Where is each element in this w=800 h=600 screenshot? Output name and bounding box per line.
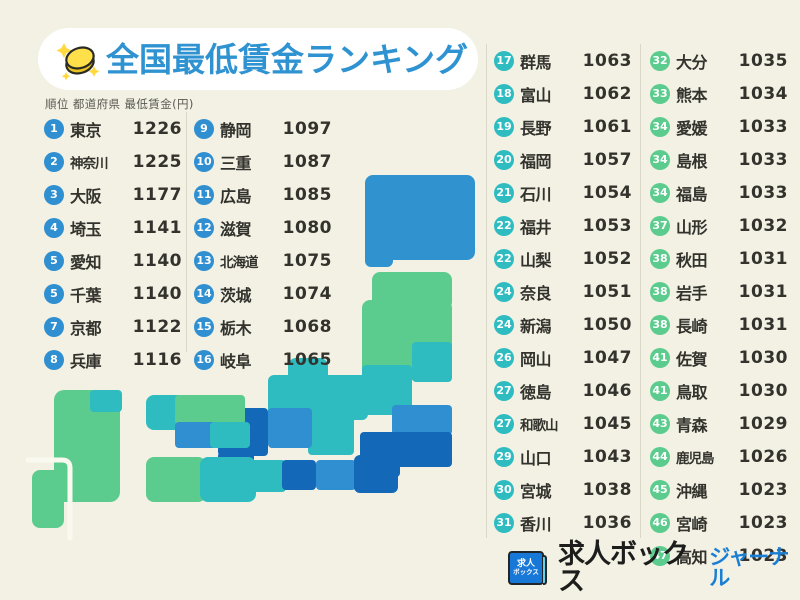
ranking-row: 1東京1226 xyxy=(44,112,186,145)
prefecture-name: 和歌山 xyxy=(520,414,576,434)
minimum-wage-value: 1087 xyxy=(276,152,336,172)
minimum-wage-value: 1075 xyxy=(276,251,336,271)
minimum-wage-value: 1047 xyxy=(576,348,636,368)
prefecture-name: 群馬 xyxy=(520,49,576,73)
ranking-row: 29山口1043 xyxy=(494,440,636,473)
rank-badge: 22 xyxy=(494,216,514,236)
logo-mark-line2: ボックス xyxy=(513,569,539,576)
rank-badge: 19 xyxy=(494,117,514,137)
prefecture-name: 静岡 xyxy=(220,117,276,141)
ranking-row: 46宮崎1023 xyxy=(650,506,792,539)
minimum-wage-value: 1052 xyxy=(576,249,636,269)
prefecture-name: 熊本 xyxy=(676,82,732,106)
kyujin-box-mark-icon: 求人 ボックス xyxy=(508,551,544,585)
minimum-wage-value: 1061 xyxy=(576,117,636,137)
minimum-wage-value: 1034 xyxy=(732,84,792,104)
ranking-row: 45沖縄1023 xyxy=(650,473,792,506)
minimum-wage-value: 1225 xyxy=(126,152,186,172)
rank-badge: 12 xyxy=(194,218,214,238)
rank-badge: 41 xyxy=(650,348,670,368)
minimum-wage-value: 1026 xyxy=(732,447,792,467)
ranking-row: 2神奈川1225 xyxy=(44,145,186,178)
rank-badge: 34 xyxy=(650,183,670,203)
minimum-wage-value: 1177 xyxy=(126,185,186,205)
map-region-chubu-nagano xyxy=(308,405,354,455)
rank-badge: 29 xyxy=(494,447,514,467)
prefecture-name: 青森 xyxy=(676,412,732,436)
map-region-chugoku-green xyxy=(175,395,245,425)
prefecture-name: 鹿児島 xyxy=(676,447,732,467)
ranking-row: 34愛媛1033 xyxy=(650,110,792,143)
ranking-column-4: 32大分103533熊本103434愛媛103334島根103334福島1033… xyxy=(650,44,792,572)
prefecture-name: 山口 xyxy=(520,445,576,469)
rank-badge: 11 xyxy=(194,185,214,205)
minimum-wage-value: 1122 xyxy=(126,317,186,337)
ranking-row: 21石川1054 xyxy=(494,176,636,209)
prefecture-name: 神奈川 xyxy=(70,152,126,172)
prefecture-name: 滋賀 xyxy=(220,216,276,240)
ranking-row: 13北海道1075 xyxy=(194,244,336,277)
prefecture-name: 佐賀 xyxy=(676,346,732,370)
ranking-row: 14茨城1074 xyxy=(194,277,336,310)
infographic-root: 全国最低賃金ランキング 順位 都道府県 最低賃金(円) 1東京12262神奈川1… xyxy=(0,0,800,600)
map-region-chugoku-teal xyxy=(210,422,250,448)
ranking-row: 43青森1029 xyxy=(650,407,792,440)
ranking-row: 15栃木1068 xyxy=(194,310,336,343)
minimum-wage-value: 1030 xyxy=(732,348,792,368)
ranking-row: 5千葉1140 xyxy=(44,277,186,310)
gold-coin-icon xyxy=(54,36,106,82)
minimum-wage-value: 1035 xyxy=(732,51,792,71)
rank-badge: 34 xyxy=(650,150,670,170)
rank-badge: 26 xyxy=(494,348,514,368)
prefecture-name: 石川 xyxy=(520,181,576,205)
ranking-row: 32大分1035 xyxy=(650,44,792,77)
rank-badge: 4 xyxy=(44,218,64,238)
ranking-row: 38岩手1031 xyxy=(650,275,792,308)
ranking-row: 34福島1033 xyxy=(650,176,792,209)
rank-badge: 27 xyxy=(494,381,514,401)
minimum-wage-value: 1085 xyxy=(276,185,336,205)
prefecture-name: 京都 xyxy=(70,315,126,339)
minimum-wage-value: 1031 xyxy=(732,249,792,269)
rank-badge: 18 xyxy=(494,84,514,104)
rank-badge: 33 xyxy=(650,84,670,104)
ranking-column-header: 順位 都道府県 最低賃金(円) xyxy=(45,96,194,112)
ranking-row: 27徳島1046 xyxy=(494,374,636,407)
rank-badge: 27 xyxy=(494,414,514,434)
prefecture-name: 岩手 xyxy=(676,280,732,304)
ranking-row: 9静岡1097 xyxy=(194,112,336,145)
map-region-shikoku-green xyxy=(146,457,206,502)
ranking-row: 26岡山1047 xyxy=(494,341,636,374)
ranking-column-1: 1東京12262神奈川12253大阪11774埼玉11415愛知11405千葉1… xyxy=(44,112,186,376)
minimum-wage-value: 1054 xyxy=(576,183,636,203)
map-region-hokkaido-tail xyxy=(365,245,393,267)
rank-badge: 31 xyxy=(494,513,514,533)
prefecture-name: 徳島 xyxy=(520,379,576,403)
ranking-row: 11広島1085 xyxy=(194,178,336,211)
prefecture-name: 兵庫 xyxy=(70,348,126,372)
minimum-wage-value: 1226 xyxy=(126,119,186,139)
minimum-wage-value: 1023 xyxy=(732,513,792,533)
ranking-row: 24奈良1051 xyxy=(494,275,636,308)
ranking-row: 18富山1062 xyxy=(494,77,636,110)
ranking-row: 31香川1036 xyxy=(494,506,636,539)
rank-badge: 8 xyxy=(44,350,64,370)
rank-badge: 15 xyxy=(194,317,214,337)
minimum-wage-value: 1141 xyxy=(126,218,186,238)
prefecture-name: 北海道 xyxy=(220,251,276,271)
minimum-wage-value: 1063 xyxy=(576,51,636,71)
rank-badge: 41 xyxy=(650,381,670,401)
prefecture-name: 沖縄 xyxy=(676,478,732,502)
rank-badge: 14 xyxy=(194,284,214,304)
rank-badge: 5 xyxy=(44,284,64,304)
rank-badge: 43 xyxy=(650,414,670,434)
minimum-wage-value: 1043 xyxy=(576,447,636,467)
ranking-row: 5愛知1140 xyxy=(44,244,186,277)
minimum-wage-value: 1033 xyxy=(732,117,792,137)
rank-badge: 21 xyxy=(494,183,514,203)
ranking-row: 4埼玉1141 xyxy=(44,211,186,244)
ranking-column-2: 9静岡109710三重108711広島108512滋賀108013北海道1075… xyxy=(194,112,336,376)
minimum-wage-value: 1023 xyxy=(732,480,792,500)
ranking-row: 22山梨1052 xyxy=(494,242,636,275)
ranking-row: 20福岡1057 xyxy=(494,143,636,176)
title-banner: 全国最低賃金ランキング xyxy=(38,28,478,90)
ranking-row: 44鹿児島1026 xyxy=(650,440,792,473)
minimum-wage-value: 1031 xyxy=(732,315,792,335)
ranking-row: 16岐阜1065 xyxy=(194,343,336,376)
prefecture-name: 岐阜 xyxy=(220,348,276,372)
ranking-row: 34島根1033 xyxy=(650,143,792,176)
prefecture-name: 秋田 xyxy=(676,247,732,271)
ranking-row: 38長崎1031 xyxy=(650,308,792,341)
minimum-wage-value: 1036 xyxy=(576,513,636,533)
prefecture-name: 新潟 xyxy=(520,313,576,337)
minimum-wage-value: 1046 xyxy=(576,381,636,401)
ranking-row: 10三重1087 xyxy=(194,145,336,178)
prefecture-name: 山梨 xyxy=(520,247,576,271)
minimum-wage-value: 1030 xyxy=(732,381,792,401)
prefecture-name: 大阪 xyxy=(70,183,126,207)
rank-badge: 13 xyxy=(194,251,214,271)
rank-badge: 20 xyxy=(494,150,514,170)
minimum-wage-value: 1097 xyxy=(276,119,336,139)
rank-badge: 44 xyxy=(650,447,670,467)
rank-badge: 10 xyxy=(194,152,214,172)
minimum-wage-value: 1033 xyxy=(732,183,792,203)
prefecture-name: 愛知 xyxy=(70,249,126,273)
prefecture-name: 鳥取 xyxy=(676,379,732,403)
prefecture-name: 東京 xyxy=(70,117,126,141)
rank-badge: 1 xyxy=(44,119,64,139)
ranking-row: 41佐賀1030 xyxy=(650,341,792,374)
rank-badge: 17 xyxy=(494,51,514,71)
rank-badge: 24 xyxy=(494,315,514,335)
map-region-kinki-nara xyxy=(282,460,316,490)
ranking-row: 24新潟1050 xyxy=(494,308,636,341)
prefecture-name: 山形 xyxy=(676,214,732,238)
ranking-row: 19長野1061 xyxy=(494,110,636,143)
map-region-kanto-chiba xyxy=(392,432,452,467)
minimum-wage-value: 1050 xyxy=(576,315,636,335)
column-divider-3 xyxy=(640,44,641,538)
prefecture-name: 埼玉 xyxy=(70,216,126,240)
map-region-shikoku-teal2 xyxy=(200,457,256,502)
ranking-row: 12滋賀1080 xyxy=(194,211,336,244)
minimum-wage-value: 1045 xyxy=(576,414,636,434)
prefecture-name: 長崎 xyxy=(676,313,732,337)
prefecture-name: 福岡 xyxy=(520,148,576,172)
ranking-row: 3大阪1177 xyxy=(44,178,186,211)
prefecture-name: 茨城 xyxy=(220,282,276,306)
minimum-wage-value: 1074 xyxy=(276,284,336,304)
rank-badge: 7 xyxy=(44,317,64,337)
map-region-kyushu-teal xyxy=(90,390,122,412)
prefecture-name: 富山 xyxy=(520,82,576,106)
minimum-wage-value: 1140 xyxy=(126,284,186,304)
prefecture-name: 三重 xyxy=(220,150,276,174)
minimum-wage-value: 1051 xyxy=(576,282,636,302)
prefecture-name: 千葉 xyxy=(70,282,126,306)
ranking-row: 7京都1122 xyxy=(44,310,186,343)
prefecture-name: 岡山 xyxy=(520,346,576,370)
prefecture-name: 広島 xyxy=(220,183,276,207)
rank-badge: 9 xyxy=(194,119,214,139)
map-region-tohoku-miyagi xyxy=(412,342,452,382)
map-region-okinawa xyxy=(32,470,64,528)
minimum-wage-value: 1031 xyxy=(732,282,792,302)
ranking-column-3: 17群馬106318富山106219長野106120福岡105721石川1054… xyxy=(494,44,636,539)
ranking-row: 38秋田1031 xyxy=(650,242,792,275)
rank-badge: 24 xyxy=(494,282,514,302)
minimum-wage-value: 1116 xyxy=(126,350,186,370)
ranking-row: 17群馬1063 xyxy=(494,44,636,77)
ranking-row: 22福井1053 xyxy=(494,209,636,242)
rank-badge: 37 xyxy=(650,216,670,236)
ranking-row: 30宮城1038 xyxy=(494,473,636,506)
prefecture-name: 愛媛 xyxy=(676,115,732,139)
ranking-row: 33熊本1034 xyxy=(650,77,792,110)
minimum-wage-value: 1068 xyxy=(276,317,336,337)
rank-badge: 22 xyxy=(494,249,514,269)
minimum-wage-value: 1038 xyxy=(576,480,636,500)
prefecture-name: 香川 xyxy=(520,511,576,535)
minimum-wage-value: 1057 xyxy=(576,150,636,170)
minimum-wage-value: 1032 xyxy=(732,216,792,236)
ranking-row: 41鳥取1030 xyxy=(650,374,792,407)
prefecture-name: 大分 xyxy=(676,49,732,73)
rank-badge: 2 xyxy=(44,152,64,172)
page-title: 全国最低賃金ランキング xyxy=(106,43,468,76)
prefecture-name: 福島 xyxy=(676,181,732,205)
logo-wordmark: 求人ボックス xyxy=(558,541,700,595)
prefecture-name: 奈良 xyxy=(520,280,576,304)
prefecture-name: 島根 xyxy=(676,148,732,172)
rank-badge: 16 xyxy=(194,350,214,370)
minimum-wage-value: 1080 xyxy=(276,218,336,238)
logo-journal-text: ジャーナル xyxy=(709,547,800,589)
rank-badge: 45 xyxy=(650,480,670,500)
brand-logo[interactable]: 求人 ボックス 求人ボックス ジャーナル xyxy=(508,548,800,588)
rank-badge: 5 xyxy=(44,251,64,271)
ranking-row: 27和歌山1045 xyxy=(494,407,636,440)
rank-badge: 38 xyxy=(650,249,670,269)
minimum-wage-value: 1065 xyxy=(276,350,336,370)
rank-badge: 38 xyxy=(650,282,670,302)
map-region-chubu-aichi xyxy=(268,408,312,448)
minimum-wage-value: 1062 xyxy=(576,84,636,104)
minimum-wage-value: 1033 xyxy=(732,150,792,170)
rank-badge: 32 xyxy=(650,51,670,71)
rank-badge: 34 xyxy=(650,117,670,137)
rank-badge: 38 xyxy=(650,315,670,335)
rank-badge: 46 xyxy=(650,513,670,533)
minimum-wage-value: 1140 xyxy=(126,251,186,271)
rank-badge: 30 xyxy=(494,480,514,500)
prefecture-name: 福井 xyxy=(520,214,576,238)
map-region-kanto-ibaraki xyxy=(392,405,452,435)
prefecture-name: 宮城 xyxy=(520,478,576,502)
prefecture-name: 栃木 xyxy=(220,315,276,339)
ranking-row: 37山形1032 xyxy=(650,209,792,242)
rank-badge: 3 xyxy=(44,185,64,205)
prefecture-name: 宮崎 xyxy=(676,511,732,535)
map-region-shikoku-b xyxy=(354,455,398,493)
map-region-shikoku-a xyxy=(316,460,356,490)
minimum-wage-value: 1053 xyxy=(576,216,636,236)
ranking-row: 8兵庫1116 xyxy=(44,343,186,376)
prefecture-name: 長野 xyxy=(520,115,576,139)
minimum-wage-value: 1029 xyxy=(732,414,792,434)
